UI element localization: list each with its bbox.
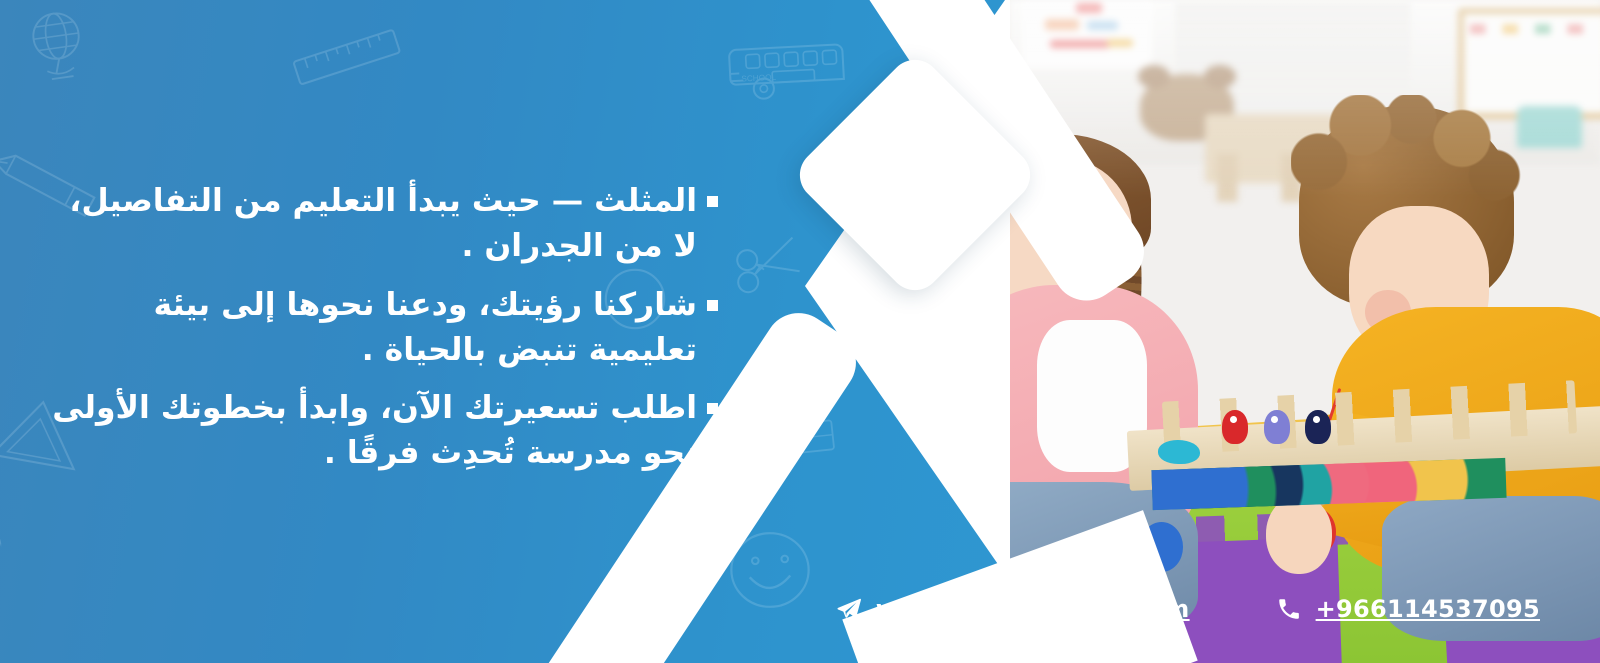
square-bullet-icon	[707, 300, 718, 311]
contact-bar: +966114537095 web@almothalath.com	[836, 595, 1540, 623]
bullet-text-2: شاركنا رؤيتك، ودعنا نحوها إلى بيئة تعليم…	[40, 283, 697, 372]
bullet-list: المثلث — حيث يبدأ التعليم من التفاصيل، ل…	[40, 179, 718, 489]
svg-text:SCHOOL: SCHOOL	[741, 73, 777, 84]
paper-plane-icon	[836, 596, 862, 622]
list-item: اطلب تسعيرتك الآن، وابدأ بخطوتك الأولى ن…	[40, 386, 718, 475]
list-item: المثلث — حيث يبدأ التعليم من التفاصيل، ل…	[40, 179, 718, 268]
bullet-text-3: اطلب تسعيرتك الآن، وابدأ بخطوتك الأولى ن…	[40, 386, 697, 475]
phone-contact[interactable]: +966114537095	[1276, 595, 1540, 623]
phone-number: +966114537095	[1316, 595, 1540, 623]
email-contact[interactable]: web@almothalath.com	[836, 595, 1190, 623]
email-address: web@almothalath.com	[876, 595, 1190, 623]
phone-icon	[1276, 596, 1302, 622]
promo-banner: SCHOOL	[0, 0, 1600, 663]
square-bullet-icon	[707, 196, 718, 207]
school-bus-icon: SCHOOL	[726, 27, 858, 108]
square-bullet-icon	[707, 403, 718, 414]
list-item: شاركنا رؤيتك، ودعنا نحوها إلى بيئة تعليم…	[40, 283, 718, 372]
banner-copy: المثلث — حيث يبدأ التعليم من التفاصيل، ل…	[0, 0, 740, 663]
bullet-text-1: المثلث — حيث يبدأ التعليم من التفاصيل، ل…	[40, 179, 697, 268]
